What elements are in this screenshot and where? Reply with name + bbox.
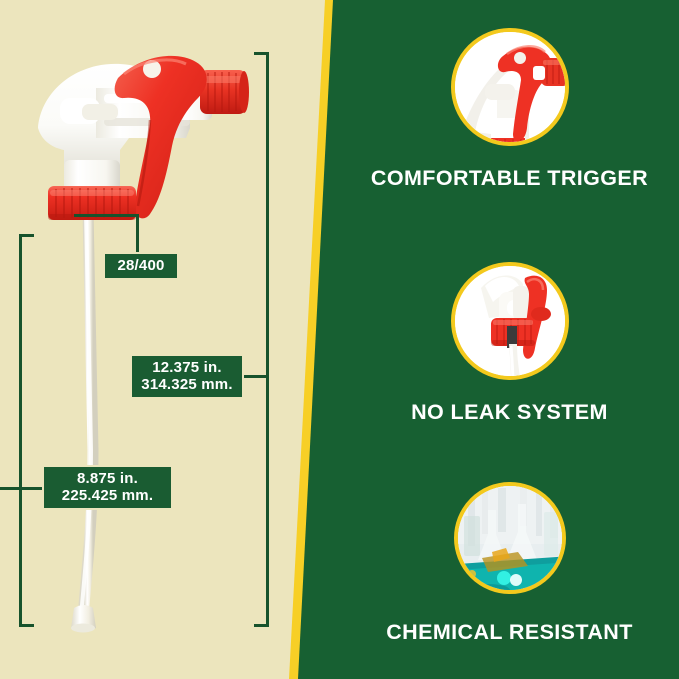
dip-tube-inches: 8.875 in. (77, 471, 138, 488)
dip-tube-bracket-top-cap (19, 234, 34, 237)
dip-tube-length-label: 8.875 in. 225.425 mm. (42, 465, 173, 510)
sprayer-trigger-closeup-icon (451, 28, 569, 146)
overall-length-bracket-top-cap (254, 52, 269, 55)
laboratory-glassware-icon (454, 482, 566, 594)
feature-chemical-resistant-label: CHEMICAL RESISTANT (386, 620, 633, 645)
trigger-sprayer-illustration (0, 0, 340, 679)
neck-finish-leader-vertical (136, 214, 139, 256)
neck-finish-label: 28/400 (103, 252, 179, 280)
feature-no-leak-system-label: NO LEAK SYSTEM (411, 400, 608, 425)
feature-chemical-resistant: CHEMICAL RESISTANT (340, 482, 679, 645)
overall-length-bracket-line (266, 52, 269, 627)
dip-tube-bracket-line (19, 234, 22, 627)
dip-tube-leader (0, 487, 46, 490)
overall-length-inches: 12.375 in. (152, 360, 222, 377)
neck-finish-value: 28/400 (117, 258, 164, 275)
feature-comfortable-trigger-label: COMFORTABLE TRIGGER (371, 166, 648, 191)
feature-comfortable-trigger: COMFORTABLE TRIGGER (340, 28, 679, 191)
overall-length-millimeters: 314.325 mm. (141, 377, 232, 394)
sprayer-collar-closeup-icon (451, 262, 569, 380)
overall-length-label: 12.375 in. 314.325 mm. (130, 354, 244, 399)
infographic-canvas: 28/400 12.375 in. 314.325 mm. 8.875 in. … (0, 0, 679, 679)
overall-length-bracket-bottom-cap (254, 624, 269, 627)
product-dimension-panel: 28/400 12.375 in. 314.325 mm. 8.875 in. … (0, 0, 340, 679)
overall-length-leader (241, 375, 269, 378)
neck-finish-leader-horizontal (74, 214, 139, 217)
dip-tube-bracket-bottom-cap (19, 624, 34, 627)
feature-no-leak-system: NO LEAK SYSTEM (340, 262, 679, 425)
dip-tube-millimeters: 225.425 mm. (62, 488, 153, 505)
nozzle-cap (200, 70, 249, 114)
feature-list: COMFORTABLE TRIGGER (340, 0, 679, 679)
